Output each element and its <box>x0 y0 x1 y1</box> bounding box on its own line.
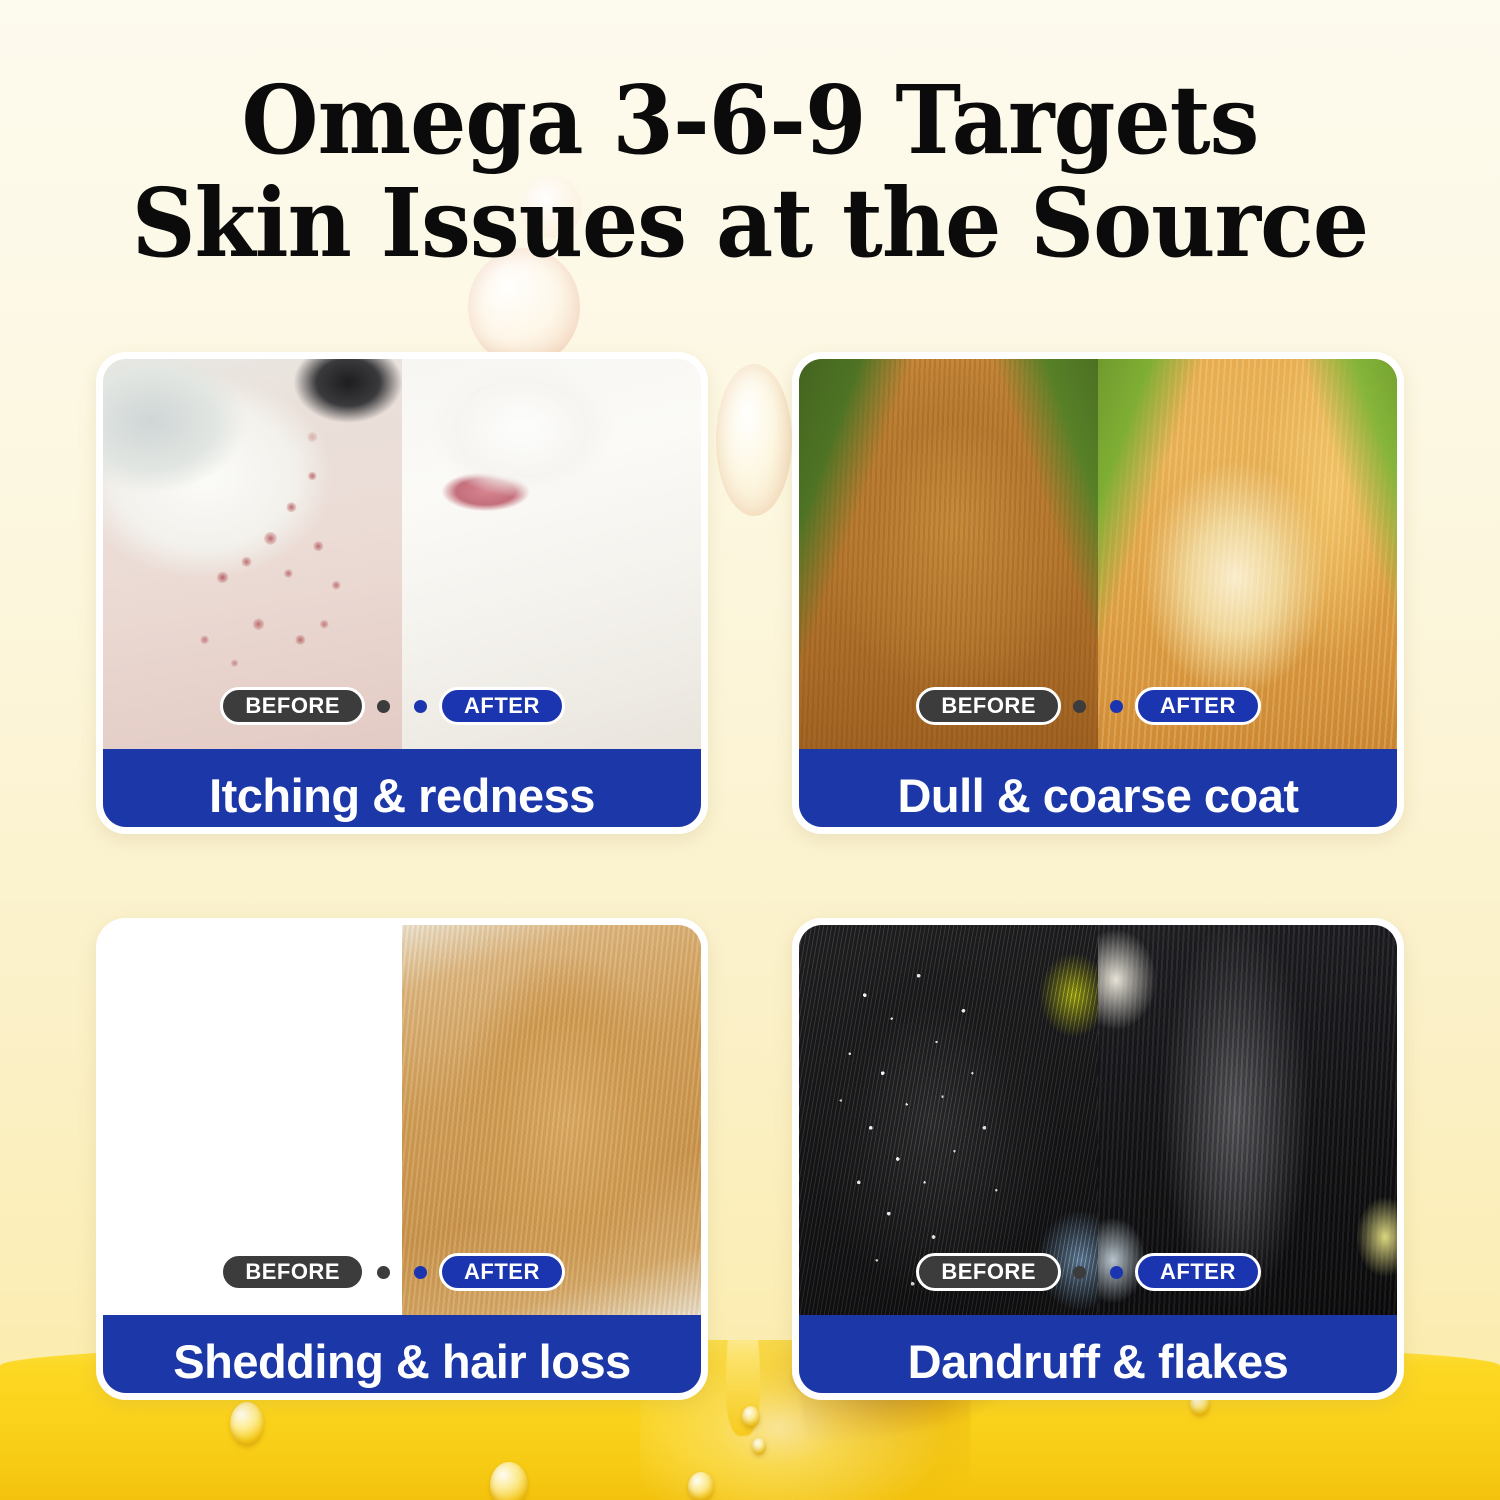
before-photo: BEFORE <box>799 359 1098 749</box>
page-title-line-2: Skin Issues at the Source <box>53 173 1448 276</box>
after-badge-row: AFTER <box>402 687 701 725</box>
before-photo: BEFORE <box>103 925 402 1315</box>
after-badge-row: AFTER <box>1098 687 1397 725</box>
benefit-card-grid: BEFORE AFTER Itching & redness BEFORE <box>96 352 1404 1400</box>
after-badge-row: AFTER <box>402 1253 701 1291</box>
page-title: Omega 3-6-9 Targets Skin Issues at the S… <box>53 70 1448 275</box>
before-dot-icon <box>1073 1266 1086 1279</box>
after-dot-icon <box>414 1266 427 1279</box>
card-label-itching-redness: Itching & redness <box>103 749 701 834</box>
before-badge: BEFORE <box>220 687 365 725</box>
after-photo: AFTER <box>402 925 701 1315</box>
before-dot-icon <box>377 700 390 713</box>
before-badge: BEFORE <box>220 1253 365 1291</box>
before-badge-row: BEFORE <box>103 1253 402 1291</box>
after-badge: AFTER <box>439 1253 565 1291</box>
before-dot-icon <box>377 1266 390 1279</box>
before-after-photo-pair: BEFORE AFTER <box>103 925 701 1315</box>
after-badge: AFTER <box>1135 1253 1261 1291</box>
before-badge-row: BEFORE <box>799 687 1098 725</box>
before-badge-row: BEFORE <box>103 687 402 725</box>
after-photo: AFTER <box>402 359 701 749</box>
before-after-photo-pair: BEFORE AFTER <box>103 359 701 749</box>
before-dot-icon <box>1073 700 1086 713</box>
oil-droplet <box>752 1438 766 1455</box>
before-after-photo-pair: BEFORE AFTER <box>799 925 1397 1315</box>
oil-droplet <box>688 1472 714 1500</box>
card-label-shedding-hair-loss: Shedding & hair loss <box>103 1315 701 1400</box>
card-dull-coarse-coat: BEFORE AFTER Dull & coarse coat <box>792 352 1404 834</box>
card-itching-redness: BEFORE AFTER Itching & redness <box>96 352 708 834</box>
before-badge: BEFORE <box>916 1253 1061 1291</box>
after-dot-icon <box>1110 1266 1123 1279</box>
before-photo: BEFORE <box>799 925 1098 1315</box>
card-dandruff-flakes: BEFORE AFTER Dandruff & flakes <box>792 918 1404 1400</box>
page-title-line-1: Omega 3-6-9 Targets <box>53 70 1448 173</box>
before-badge: BEFORE <box>916 687 1061 725</box>
before-after-photo-pair: BEFORE AFTER <box>799 359 1397 749</box>
after-photo: AFTER <box>1098 925 1397 1315</box>
card-shedding-hair-loss: BEFORE AFTER Shedding & hair loss <box>96 918 708 1400</box>
after-badge-row: AFTER <box>1098 1253 1397 1291</box>
oil-droplet <box>490 1462 528 1500</box>
after-photo: AFTER <box>1098 359 1397 749</box>
after-badge: AFTER <box>439 687 565 725</box>
oil-droplet <box>230 1402 264 1446</box>
after-dot-icon <box>414 700 427 713</box>
card-label-dandruff-flakes: Dandruff & flakes <box>799 1315 1397 1400</box>
before-photo: BEFORE <box>103 359 402 749</box>
before-badge-row: BEFORE <box>799 1253 1098 1291</box>
after-dot-icon <box>1110 700 1123 713</box>
oil-droplet <box>742 1406 760 1428</box>
after-badge: AFTER <box>1135 687 1261 725</box>
card-label-dull-coarse-coat: Dull & coarse coat <box>799 749 1397 834</box>
